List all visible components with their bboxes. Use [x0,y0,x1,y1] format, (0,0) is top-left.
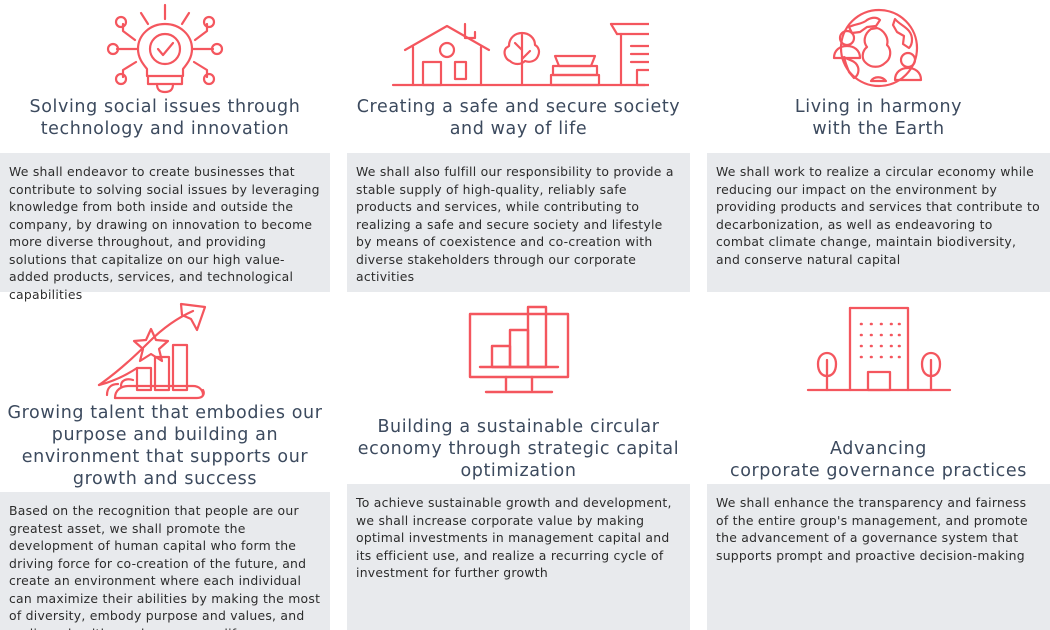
card-title: Advancing corporate governance practices [707,402,1050,484]
column-gap [690,0,707,292]
row-gap [690,292,707,302]
card-title: Living in harmony with the Earth [707,96,1050,153]
card-body: We shall enhance the transparency and fa… [707,484,1050,630]
materiality-card-board: Solving social issues through technology… [0,0,1050,630]
hand-growth-chart-arrow-star-icon [0,302,330,402]
card-body: We shall endeavor to create businesses t… [0,153,330,292]
card-body: Based on the recognition that people are… [0,492,330,630]
lightbulb-check-circuit-icon [0,0,330,96]
card-corporate-governance: Advancing corporate governance practices… [707,302,1050,630]
column-gap [690,302,707,630]
card-sustainable-circular-economy: Building a sustainable circular economy … [347,302,690,630]
card-body: We shall work to realize a circular econ… [707,153,1050,292]
card-body: To achieve sustainable growth and develo… [347,484,690,630]
card-grid: Solving social issues through technology… [0,0,1050,630]
card-title: Building a sustainable circular economy … [347,402,690,484]
row-gap [707,292,1050,302]
town-buildings-trees-icon [347,0,690,96]
card-title: Creating a safe and secure society and w… [347,96,690,153]
monitor-bar-chart-icon [347,302,690,402]
corporate-building-trees-icon [707,302,1050,402]
column-gap [330,0,347,292]
card-safe-secure-society: Creating a safe and secure society and w… [347,0,690,292]
row-gap [347,292,690,302]
card-growing-talent: Growing talent that embodies our purpose… [0,302,330,630]
globe-people-icon [707,0,1050,96]
card-living-in-harmony: Living in harmony with the Earth We shal… [707,0,1050,292]
card-title: Solving social issues through technology… [0,96,330,153]
row-gap [330,292,347,302]
column-gap [330,302,347,630]
card-body: We shall also fulfill our responsibility… [347,153,690,292]
card-solving-social-issues: Solving social issues through technology… [0,0,330,292]
card-title: Growing talent that embodies our purpose… [0,402,330,492]
